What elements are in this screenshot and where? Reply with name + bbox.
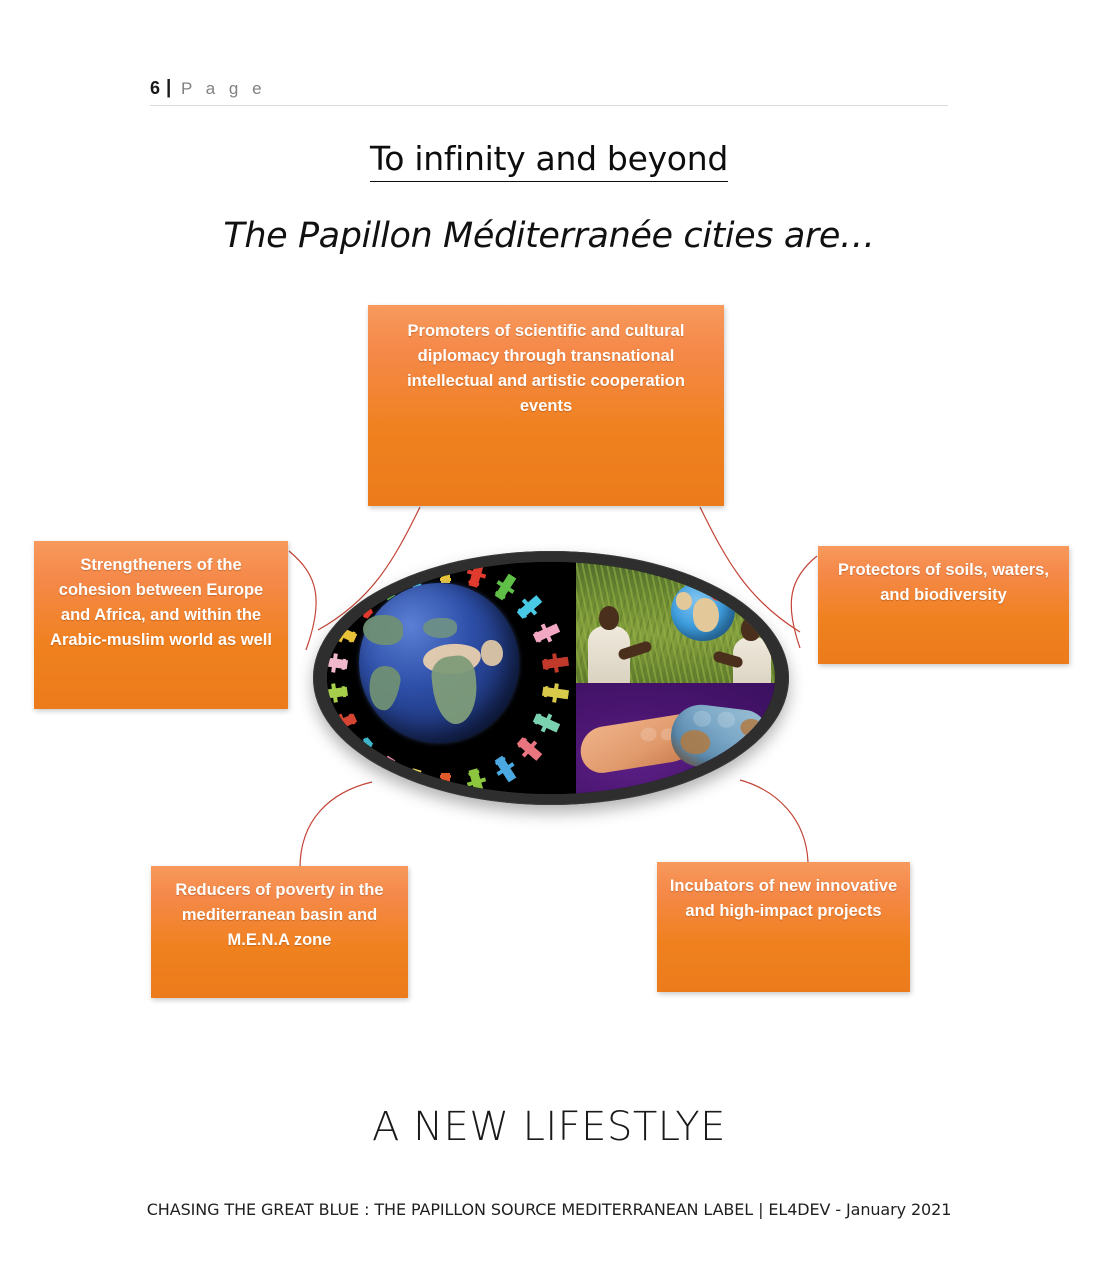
paper-person-figure	[329, 624, 356, 643]
paper-person-figure	[405, 562, 421, 588]
paper-person-figure	[533, 713, 560, 732]
connector-left-arc	[289, 551, 316, 650]
paper-person-figure	[495, 574, 517, 601]
page-word-label: P a g e	[181, 79, 266, 99]
paper-person-figure	[441, 562, 450, 583]
paper-person-figure	[533, 624, 560, 643]
oval-inner-frame	[327, 562, 775, 794]
paper-person-figure	[405, 768, 421, 794]
closing-headline: A NEW LIFESTLYE	[0, 1104, 1098, 1150]
center-oval-collage	[313, 551, 789, 805]
paper-person-figure	[348, 737, 374, 761]
paper-person-figure	[469, 768, 485, 794]
paper-person-figure	[327, 656, 348, 669]
paper-person-figure	[374, 574, 396, 601]
paper-person-figure	[329, 713, 356, 732]
connector-right-arc	[791, 556, 817, 648]
hand-earth-painted	[668, 702, 771, 775]
paper-person-figure	[517, 595, 543, 619]
earth-globe-icon	[359, 583, 519, 743]
paper-person-figure	[495, 755, 517, 782]
globe-people-panel	[327, 562, 576, 794]
paper-person-figure	[469, 562, 485, 588]
paper-person-figure	[348, 595, 374, 619]
page-title-text: To infinity and beyond	[370, 139, 728, 182]
page-title: To infinity and beyond	[0, 139, 1098, 178]
callout-box-top[interactable]: Promoters of scientific and cultural dip…	[368, 305, 724, 506]
callout-right-text: Protectors of soils, waters, and biodive…	[830, 558, 1057, 608]
clasped-hands-photo	[576, 683, 775, 794]
callout-box-right[interactable]: Protectors of soils, waters, and biodive…	[818, 546, 1069, 664]
callout-bottom-right-text: Incubators of new innovative and high-im…	[669, 874, 898, 924]
paper-person-figure	[327, 687, 348, 700]
callout-top-text: Promoters of scientific and cultural dip…	[380, 319, 712, 419]
callout-left-text: Strengtheners of the cohesion between Eu…	[46, 553, 276, 653]
header-separator: |	[166, 77, 171, 99]
document-page: 6 | P a g e To infinity and beyond The P…	[0, 0, 1098, 1280]
paper-person-figure	[374, 755, 396, 782]
page-number: 6	[150, 78, 160, 99]
callout-box-left[interactable]: Strengtheners of the cohesion between Eu…	[34, 541, 288, 709]
callout-box-bottom-left[interactable]: Reducers of poverty in the mediterranean…	[151, 866, 408, 998]
paper-person-figure	[542, 656, 569, 669]
held-globe-icon	[671, 581, 735, 641]
page-footer: CHASING THE GREAT BLUE : THE PAPILLON SO…	[0, 1200, 1098, 1219]
farmers-globe-photo	[576, 562, 775, 683]
paper-person-figure	[542, 687, 569, 700]
paper-person-figure	[441, 773, 450, 794]
connector-bottom-left-arc	[300, 782, 372, 868]
page-header: 6 | P a g e	[150, 78, 948, 106]
callout-bottom-left-text: Reducers of poverty in the mediterranean…	[163, 878, 396, 953]
page-subtitle: The Papillon Méditerranée cities are…	[0, 216, 1098, 256]
paper-person-figure	[517, 737, 543, 761]
callout-box-bottom-right[interactable]: Incubators of new innovative and high-im…	[657, 862, 910, 992]
